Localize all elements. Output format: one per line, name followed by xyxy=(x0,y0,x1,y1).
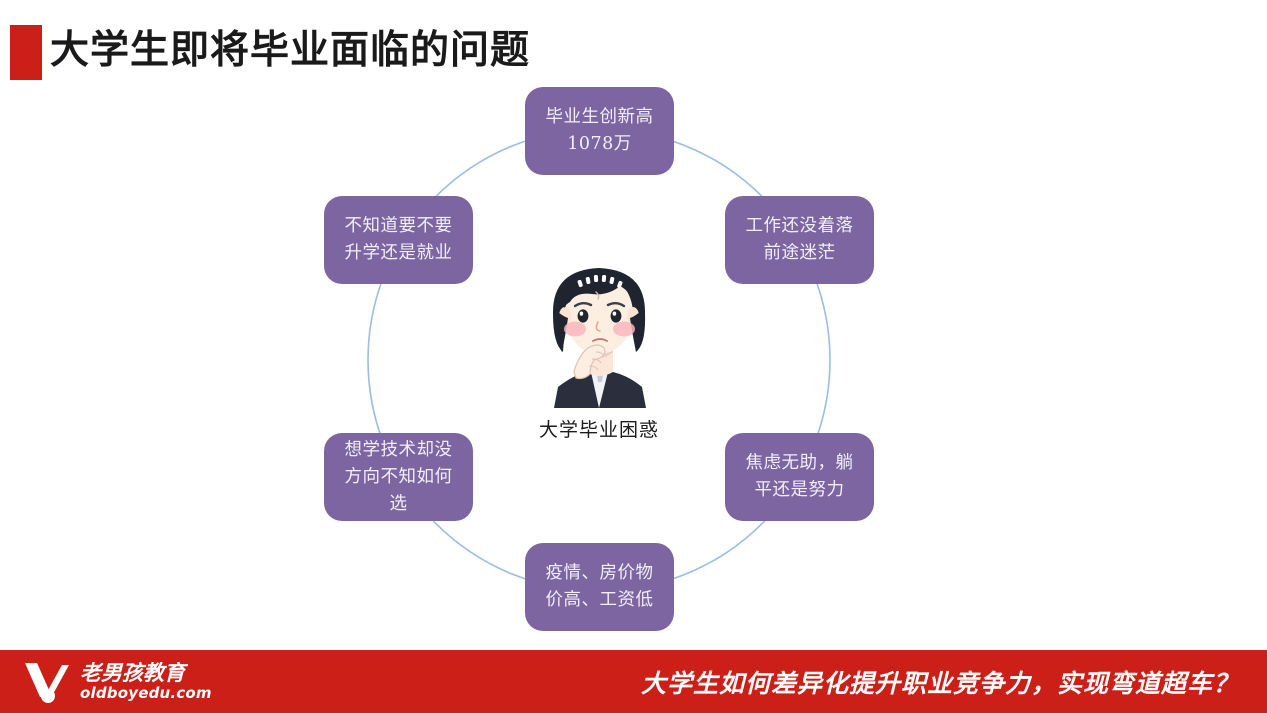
node-top-line1: 毕业生创新高 xyxy=(546,104,654,131)
v-check-logo-icon xyxy=(22,660,74,704)
node-top[interactable]: 毕业生创新高 1078万 xyxy=(525,87,674,175)
brand-domain: oldboyedu.com xyxy=(80,685,212,702)
node-top-line2: 1078万 xyxy=(546,131,654,158)
slide-canvas: 大学生即将毕业面临的问题 毕业生创新高 1078万 工作还没着落 前途迷茫 焦虑… xyxy=(0,0,1267,713)
node-left-top-line2: 升学还是就业 xyxy=(345,240,453,267)
footer-bar: 老男孩教育 oldboyedu.com 大学生如何差异化提升职业竞争力，实现弯道… xyxy=(0,650,1267,713)
brand-logo[interactable]: 老男孩教育 oldboyedu.com xyxy=(22,659,272,705)
node-left-bottom-line1: 想学技术却没 xyxy=(345,437,453,464)
thinking-woman-illustration xyxy=(512,248,687,408)
node-left-bottom-line2: 方向不知如何 xyxy=(345,464,453,491)
brand-name-cn: 老男孩教育 xyxy=(80,662,212,685)
footer-slogan: 大学生如何差异化提升职业竞争力，实现弯道超车？ xyxy=(620,650,1260,713)
node-bottom[interactable]: 疫情、房价物 价高、工资低 xyxy=(525,543,674,631)
node-right-bottom-line1: 焦虑无助，躺 xyxy=(746,450,854,477)
node-left-bottom-line3: 选 xyxy=(345,491,453,518)
node-right-bottom-line2: 平还是努力 xyxy=(746,477,854,504)
cycle-diagram: 毕业生创新高 1078万 工作还没着落 前途迷茫 焦虑无助，躺 平还是努力 疫情… xyxy=(0,0,1267,650)
node-right-top-line1: 工作还没着落 xyxy=(746,213,854,240)
node-left-top[interactable]: 不知道要不要 升学还是就业 xyxy=(324,196,473,284)
node-right-top[interactable]: 工作还没着落 前途迷茫 xyxy=(725,196,874,284)
node-left-bottom[interactable]: 想学技术却没 方向不知如何 选 xyxy=(324,433,473,521)
node-right-top-line2: 前途迷茫 xyxy=(746,240,854,267)
node-bottom-line1: 疫情、房价物 xyxy=(546,560,654,587)
node-right-bottom[interactable]: 焦虑无助，躺 平还是努力 xyxy=(725,433,874,521)
node-left-top-line1: 不知道要不要 xyxy=(345,213,453,240)
node-bottom-line2: 价高、工资低 xyxy=(546,587,654,614)
center-caption: 大学毕业困惑 xyxy=(499,415,699,442)
